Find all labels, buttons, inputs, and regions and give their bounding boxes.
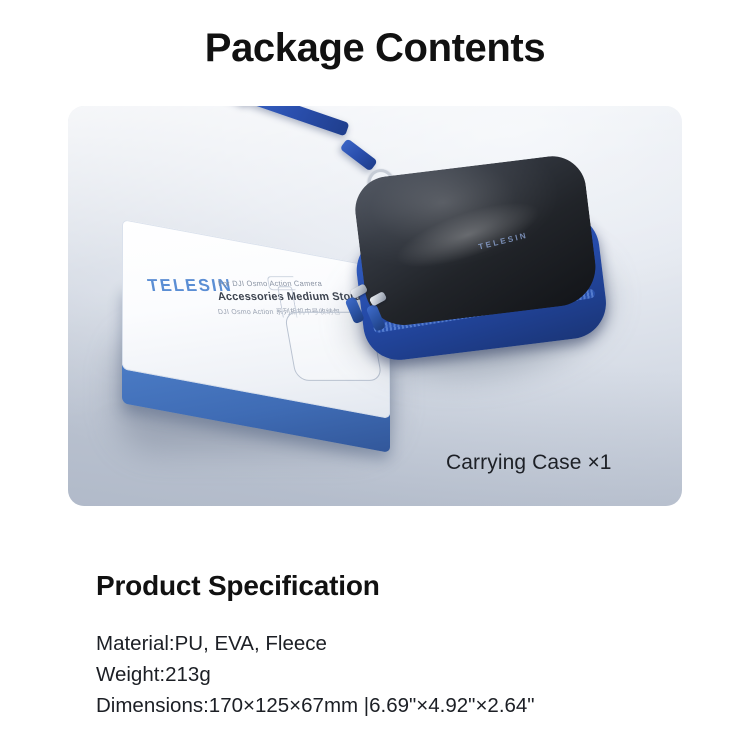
- spec-row-material: Material:PU, EVA, Fleece: [96, 628, 535, 659]
- page-title: Package Contents: [0, 26, 750, 71]
- carrying-case: TELESIN: [327, 113, 660, 437]
- specification-heading: Product Specification: [96, 570, 380, 602]
- case-lid: [351, 152, 600, 329]
- spec-row-weight: Weight:213g: [96, 659, 535, 690]
- product-photo-panel: TELESIN TELESIN For DJI Osmo Action Came…: [68, 106, 682, 506]
- photo-caption: Carrying Case ×1: [446, 451, 612, 475]
- spec-row-dimensions: Dimensions:170×125×67mm |6.69"×4.92"×2.6…: [96, 690, 535, 721]
- specification-list: Material:PU, EVA, Fleece Weight:213g Dim…: [96, 628, 535, 721]
